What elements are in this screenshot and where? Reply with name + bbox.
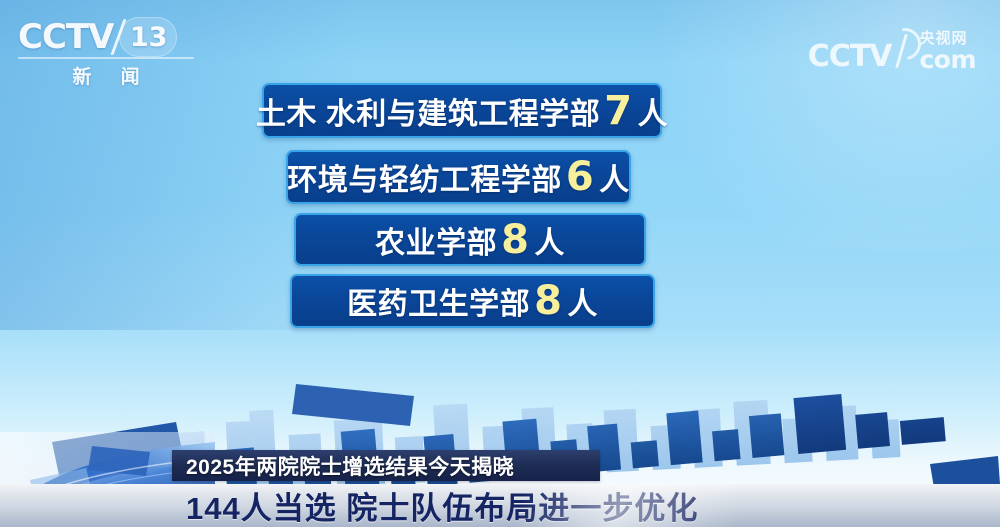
logo-row: CCTV 13 [18, 18, 198, 56]
stat-bar-label: 医药卫生学部 [347, 279, 530, 323]
channel-sub-label: 新 闻 [18, 62, 194, 89]
stat-bar-row: 土木 水利与建筑工程学部 7 人 [262, 83, 662, 138]
stat-bar-number: 8 [501, 225, 529, 255]
broadcast-frame: CCTV 13 新 闻 CCTV 央视网 com 土木 水利与建筑工程学部 7 [0, 0, 1000, 527]
stat-bar-text: 医药卫生学部 8 人 [347, 279, 598, 323]
stat-bar-number: 7 [604, 96, 632, 126]
stat-bar-text: 土木 水利与建筑工程学部 7 人 [256, 89, 668, 133]
stat-bar-number: 6 [566, 162, 594, 192]
cctv-wordmark: CCTV [18, 20, 113, 54]
lower-third-subtitle: 2025年两院院士增选结果今天揭晓 [186, 451, 514, 481]
stat-bar-row: 环境与轻纺工程学部 6 人 [286, 150, 631, 204]
lower-third-subtitle-band: 2025年两院院士增选结果今天揭晓 [172, 450, 600, 481]
cctv13-channel-logo: CCTV 13 新 闻 [18, 18, 198, 82]
lower-third-headline: 144人当选 院士队伍布局进一步优化 [186, 483, 698, 527]
lower-third-headline-band: 144人当选 院士队伍布局进一步优化 [0, 484, 1000, 527]
watermark-com-text: com [919, 47, 976, 72]
watermark-right-stack: 央视网 com [919, 31, 976, 72]
logo-underline-rule [18, 57, 194, 59]
stat-bar-text: 农业学部 8 人 [375, 218, 565, 262]
stat-bar-label: 环境与轻纺工程学部 [287, 155, 562, 199]
stat-bar-unit: 人 [567, 279, 598, 323]
stat-bar-row: 农业学部 8 人 [294, 213, 646, 266]
stat-bar-unit: 人 [534, 218, 565, 262]
stat-bar-unit: 人 [599, 155, 630, 199]
stat-bar-unit: 人 [638, 89, 669, 133]
stat-bar-number: 8 [534, 286, 562, 316]
stat-bar-text: 环境与轻纺工程学部 6 人 [287, 155, 629, 199]
channel-number: 13 [130, 22, 168, 53]
channel-number-badge: 13 [115, 17, 177, 57]
stat-bar-label: 土木 水利与建筑工程学部 [256, 89, 600, 133]
stat-bar-label: 农业学部 [375, 218, 497, 262]
watermark-cctv-text: CCTV [808, 42, 892, 72]
stat-bar-row: 医药卫生学部 8 人 [290, 274, 655, 328]
cctv-com-watermark: CCTV 央视网 com [808, 22, 976, 72]
watermark-arc-icon [891, 28, 925, 72]
